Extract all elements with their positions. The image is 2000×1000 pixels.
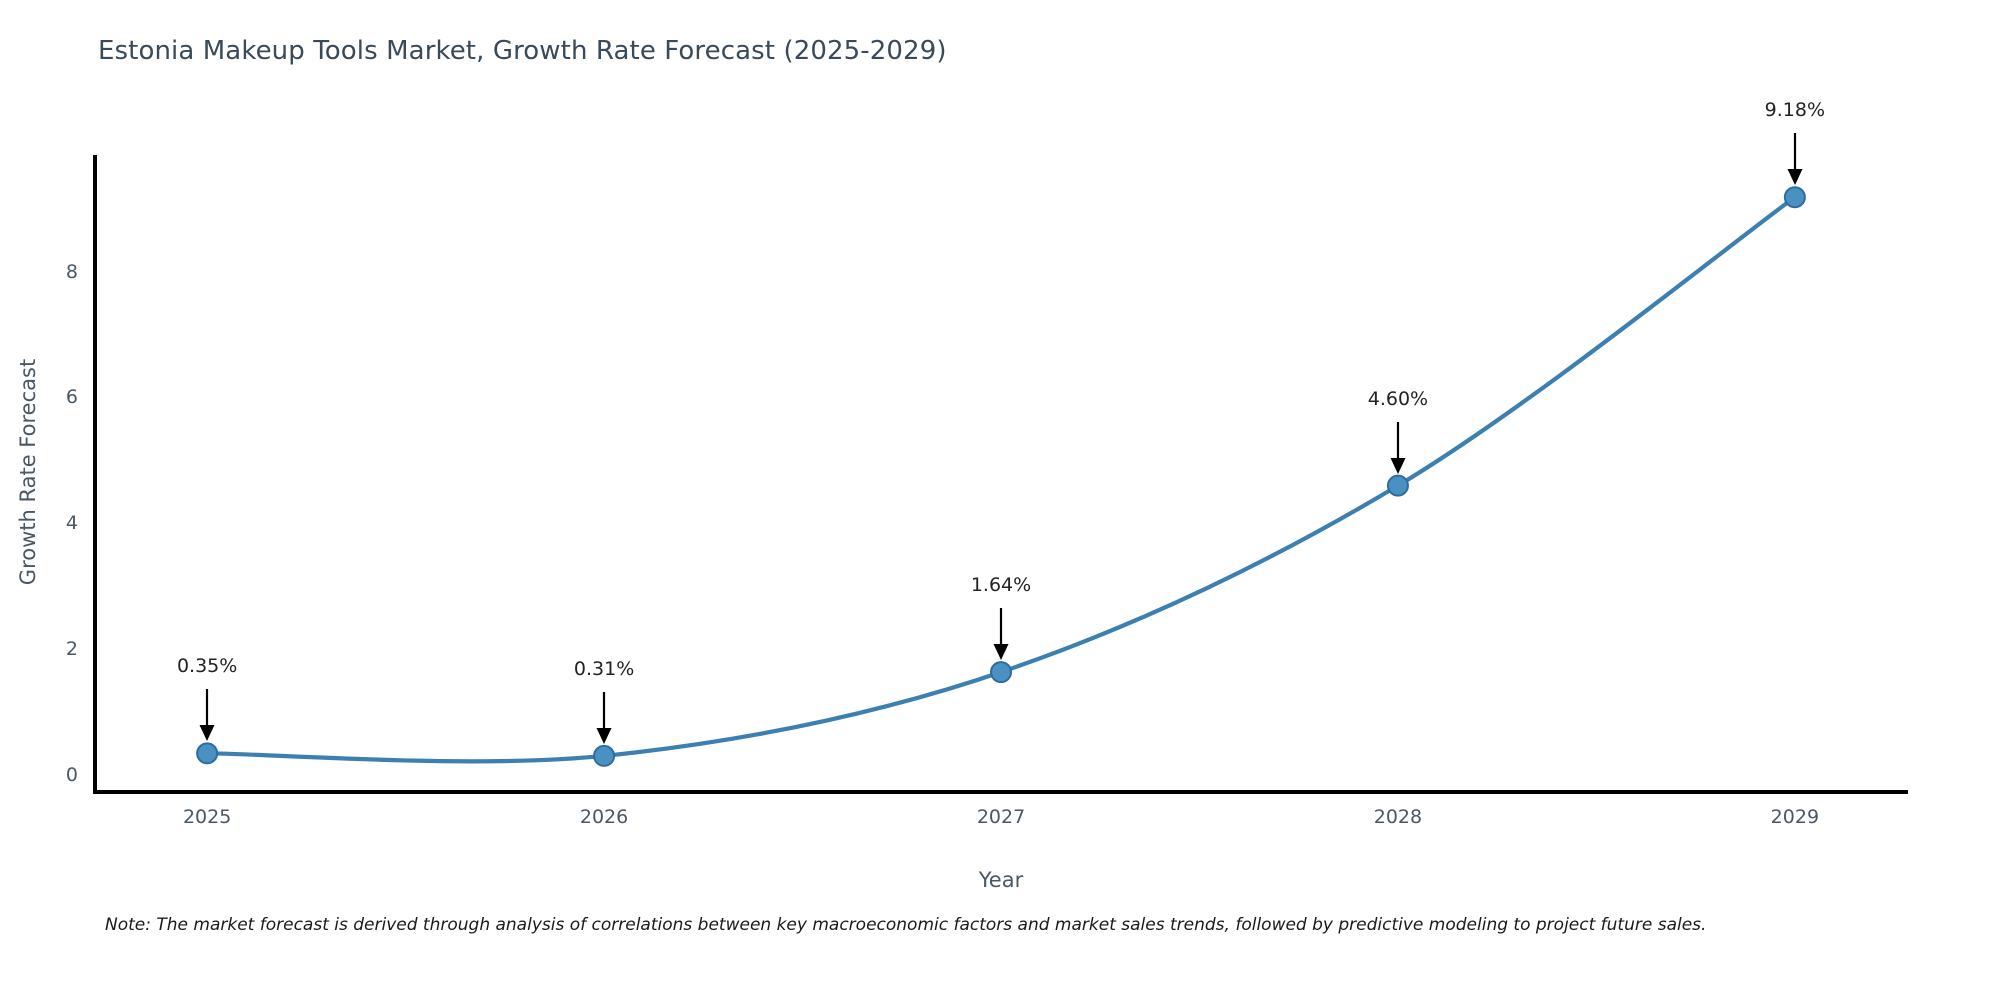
x-tick-label: 2026 <box>580 806 628 828</box>
series-markers-group <box>197 187 1805 766</box>
chart-container: Estonia Makeup Tools Market, Growth Rate… <box>0 0 2000 1000</box>
chart-footnote: Note: The market forecast is derived thr… <box>105 915 1706 935</box>
y-axis-tick-labels: 02468 <box>0 0 78 1000</box>
plot-area <box>96 155 1906 793</box>
data-point-marker[interactable] <box>991 662 1011 682</box>
data-point-marker[interactable] <box>594 746 614 766</box>
x-tick-label: 2028 <box>1374 806 1422 828</box>
y-tick-label: 4 <box>0 512 78 534</box>
plot-svg <box>96 155 1906 793</box>
data-point-marker[interactable] <box>1785 187 1805 207</box>
y-tick-label: 6 <box>0 386 78 408</box>
x-tick-label: 2027 <box>977 806 1025 828</box>
chart-title: Estonia Makeup Tools Market, Growth Rate… <box>98 36 947 66</box>
y-tick-label: 0 <box>0 764 78 786</box>
y-tick-label: 2 <box>0 638 78 660</box>
y-tick-label: 8 <box>0 261 78 283</box>
data-point-marker[interactable] <box>1388 476 1408 496</box>
x-tick-label: 2029 <box>1771 806 1819 828</box>
x-tick-label: 2025 <box>183 806 231 828</box>
x-axis-title: Year <box>96 868 1906 892</box>
data-point-marker[interactable] <box>197 743 217 763</box>
data-point-label: 9.18% <box>1765 99 1825 121</box>
